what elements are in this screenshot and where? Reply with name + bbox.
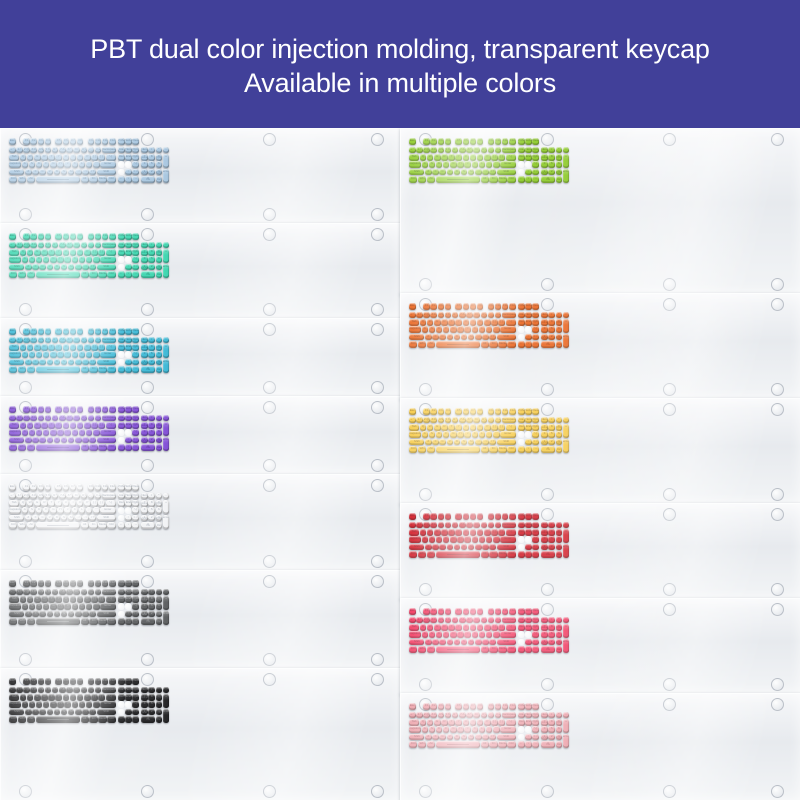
keycap: ←: [518, 446, 525, 453]
keycap-legend: F3: [438, 514, 445, 518]
keycap-legend: D: [36, 162, 43, 166]
keycap-legend: ; :: [86, 702, 93, 706]
keycap-legend: ↓: [525, 552, 532, 556]
keycap: A: [22, 161, 29, 168]
keycap-legend: F12: [109, 679, 116, 683]
keycap-legend: F9: [488, 514, 495, 518]
keycap-legend: , <: [475, 545, 482, 549]
keycap-legend: , <: [475, 735, 482, 739]
keycap: B: [454, 734, 461, 741]
keycap-legend: Alt: [81, 272, 89, 276]
keycap: F2: [430, 703, 437, 710]
keycap-legend: B: [454, 440, 461, 444]
keycap-legend: /: [548, 313, 555, 317]
keycap-legend: Shift: [497, 335, 516, 339]
keycap: F11: [502, 408, 509, 415]
keycap-legend: F8: [77, 581, 84, 585]
keycap-legend: →: [532, 552, 539, 556]
keycap: 3 #: [30, 687, 37, 694]
keycap-legend: F7: [470, 609, 477, 613]
keycap-legend: R: [41, 155, 48, 159]
keycap-legend: Esc: [409, 609, 416, 613]
keycap-legend: ↑: [125, 360, 132, 364]
keycap-legend: F2: [30, 234, 37, 238]
keycap-legend: Tab: [9, 501, 19, 505]
keycap-legend: -: [563, 148, 570, 152]
keycap-legend: Shift: [497, 545, 516, 549]
keycap: 3PgDn: [556, 169, 563, 176]
keycap: [118, 701, 125, 708]
keycap: -: [163, 493, 170, 500]
keycap-legend: \ |: [506, 530, 516, 534]
keycap-legend: ←: [518, 177, 525, 181]
keycap-legend: Pause: [132, 407, 139, 411]
keycap: Menu: [498, 741, 506, 748]
keycap: Ctrl: [107, 444, 115, 451]
keycap: 5 %: [45, 147, 52, 154]
keycap-legend: F5: [455, 514, 462, 518]
keycap: B: [454, 169, 461, 176]
keycap: 2 @: [423, 712, 430, 719]
keycap: Enter: [563, 544, 570, 558]
keycap-legend: End: [525, 320, 532, 324]
keycap: /: [548, 712, 555, 719]
keycap: J: [64, 701, 71, 708]
keycap: [518, 544, 525, 551]
keycap: F12: [109, 233, 116, 240]
keycap: F2: [30, 406, 37, 413]
keycap: Pause: [532, 608, 539, 615]
keycap-tray-hot-pink: EscF1F2F3F4F5F6F7F8F9F10F11F12PrtScScrLk…: [400, 598, 800, 695]
keycap: F8: [77, 233, 84, 240]
keycap-legend: X: [32, 438, 39, 442]
keycap-legend: F6: [63, 234, 70, 238]
keycap-legend-sub: PgDn: [156, 266, 163, 270]
keycap-legend: ] }: [98, 250, 105, 254]
keycap: Enter: [100, 256, 115, 263]
keycap-legend: PgUp: [132, 148, 139, 152]
keycap-legend: F6: [463, 609, 470, 613]
keycap: K: [472, 536, 479, 543]
keycap-legend: C: [39, 612, 46, 616]
keycap: J: [464, 631, 471, 638]
keycap-legend: D: [436, 537, 443, 541]
keycap-legend: A: [422, 727, 429, 731]
keycap: PgDn: [532, 424, 539, 431]
keycap-legend: *: [556, 148, 563, 152]
keycap: X: [32, 709, 39, 716]
keycap-legend: Win: [18, 177, 26, 181]
keycap: ; :: [486, 536, 493, 543]
keycap: F2: [30, 580, 37, 587]
keycap: M: [468, 734, 475, 741]
keycap-legend: Enter: [563, 735, 570, 739]
keycap-plate-yellow: EscF1F2F3F4F5F6F7F8F9F10F11F12PrtScScrLk…: [407, 406, 795, 497]
keycap-legend: ' ": [93, 604, 100, 608]
keycap-legend: -: [563, 418, 570, 422]
keycap: Ctrl: [409, 646, 417, 653]
keycap-legend: PrtSc: [118, 139, 125, 143]
keycap: A: [22, 351, 29, 358]
keycap: PrtSc: [118, 138, 125, 145]
keycap-legend: ] }: [498, 625, 505, 629]
keycap-legend: B: [454, 335, 461, 339]
keycap: 8: [148, 596, 155, 603]
keycap: 4 $: [438, 617, 445, 624]
keycap: [118, 611, 125, 618]
keycap-legend: \ |: [132, 162, 139, 166]
keycap: K: [72, 351, 79, 358]
keycap-legend: R: [441, 425, 448, 429]
keycap-legend: K: [72, 508, 79, 512]
keycap-legend: D: [436, 432, 443, 436]
keycap: Alt: [27, 716, 35, 723]
keycap: F3: [38, 233, 45, 240]
keycap: /: [148, 147, 155, 154]
keycap-legend: M: [68, 360, 75, 364]
keycap: 9PgUp: [556, 719, 563, 726]
keycap-legend: N: [61, 516, 68, 520]
keycap-legend: F1: [423, 139, 430, 143]
keycap: Del: [518, 319, 525, 326]
keycap-legend: 8 *: [466, 313, 473, 317]
keycap: M: [68, 437, 75, 444]
keycap: . >: [482, 334, 489, 341]
keycap-legend: I: [70, 597, 77, 601]
keycap-legend: Home: [125, 338, 132, 342]
keycap: 2: [548, 544, 555, 551]
keycap: [ {: [491, 154, 498, 161]
keycap: A: [22, 603, 29, 610]
keycap-legend: Menu: [98, 367, 106, 371]
keycap-legend: Tab: [409, 425, 419, 429]
keycap: 9 (: [73, 493, 80, 500]
keycap-legend: F6: [463, 514, 470, 518]
keycap-legend: . >: [482, 335, 489, 339]
keycap-legend: Shift: [97, 710, 116, 714]
keycap-legend: V: [47, 360, 54, 364]
keycap: M: [468, 639, 475, 646]
keycap: 1 !: [16, 687, 23, 694]
keycap: Q: [20, 694, 27, 701]
keycap: L: [79, 603, 86, 610]
keycap: Capslock: [9, 256, 21, 263]
keycap-legend: 8: [548, 720, 555, 724]
keycap: ' ": [93, 256, 100, 263]
keycap-legend: F5: [55, 581, 62, 585]
keycap-legend: Num: [141, 338, 148, 342]
keycap: →: [532, 741, 539, 748]
keycap: \ |: [506, 719, 516, 726]
keycap-legend: B: [454, 640, 461, 644]
keycap: Enter: [563, 639, 570, 653]
keycap: Ctrl: [9, 618, 17, 625]
keycap: [ {: [91, 422, 98, 429]
keycap: F1: [23, 580, 30, 587]
keycap: Y: [55, 596, 62, 603]
keycap: Enter: [163, 709, 170, 723]
keycap-legend: W: [427, 425, 434, 429]
keycap: F11: [502, 703, 509, 710]
keycap-legend: Enter: [163, 265, 170, 269]
keycap-legend: F12: [109, 234, 116, 238]
keycap-legend: 6 ^: [52, 494, 59, 498]
keycap: 2: [148, 359, 155, 366]
keycap: V: [447, 169, 454, 176]
keycap: 5 %: [445, 312, 452, 319]
keycap: E: [434, 624, 441, 631]
keycap-legend: L: [79, 430, 86, 434]
keycap: Fn: [89, 444, 97, 451]
keycap: W: [27, 500, 34, 507]
keycap-legend: 0 ): [481, 418, 488, 422]
keycap: 2 @: [423, 147, 430, 154]
keycap: 6: [556, 631, 563, 638]
keycap: Pause: [132, 406, 139, 413]
keycap: End: [125, 422, 132, 429]
keycap: Z: [25, 437, 32, 444]
keycap: 8 *: [466, 617, 473, 624]
keycap-legend: 3 #: [30, 243, 37, 247]
keycap-legend: \ |: [106, 250, 116, 254]
keycap-legend: ScrLk: [125, 407, 132, 411]
keycap-legend: 2: [548, 735, 555, 739]
keycap: F11: [102, 678, 109, 685]
keycap: Q: [20, 154, 27, 161]
keycap: [36, 176, 80, 183]
keycap: F: [443, 431, 450, 438]
keycap-legend: PgDn: [532, 425, 539, 429]
keycap: ' ": [93, 161, 100, 168]
keycap: 1End: [141, 709, 148, 716]
keycap-legend: ↑: [125, 710, 132, 714]
keycap-legend: 6 ^: [452, 313, 459, 317]
keycap: . >: [82, 611, 89, 618]
keycap-legend: I: [70, 501, 77, 505]
keycap: \ |: [532, 726, 539, 733]
keycap-legend: F12: [509, 514, 516, 518]
keycap: ; :: [486, 631, 493, 638]
keycap: F3: [38, 484, 45, 491]
keycap-legend-sub: End: [141, 711, 148, 715]
keycap: ; :: [86, 256, 93, 263]
keycap: O: [77, 596, 84, 603]
keycap-legend: 3 #: [30, 688, 37, 692]
keycap: Capslock: [409, 161, 421, 168]
keycap: C: [439, 734, 446, 741]
keycap-legend: Del: [518, 530, 525, 534]
keycap-legend: D: [36, 702, 43, 706]
keycap: E: [34, 596, 41, 603]
keycap-legend: ←: [118, 523, 125, 527]
keycap: ] }: [98, 596, 105, 603]
keycap: D: [36, 701, 43, 708]
keycap: /: [548, 417, 555, 424]
keycap-legend: T: [48, 501, 55, 505]
keycap: Z: [425, 334, 432, 341]
keycap: / ?: [489, 334, 496, 341]
keycap: End: [525, 529, 532, 536]
keycap-legend: ' ": [93, 162, 100, 166]
keycap-legend: Num: [541, 523, 548, 527]
keycap: B: [454, 639, 461, 646]
keycap: ↑: [525, 544, 532, 551]
keycap-legend: ' ": [93, 352, 100, 356]
keycap-legend: [ {: [491, 720, 498, 724]
keycap: X: [32, 359, 39, 366]
keycap: Tab: [409, 424, 419, 431]
keycap: 2: [548, 439, 555, 446]
keycap: 5: [548, 726, 555, 733]
keycap: Alt: [427, 646, 435, 653]
keycap: J: [464, 536, 471, 543]
keycap: Y: [455, 319, 462, 326]
keycap-legend: J: [464, 327, 471, 331]
keycap-tray-light-pink: EscF1F2F3F4F5F6F7F8F9F10F11F12PrtScScrLk…: [400, 693, 800, 800]
keycap: F11: [102, 233, 109, 240]
keycap-legend: ' ": [493, 632, 500, 636]
keycap: 6: [156, 256, 163, 263]
keycap-legend: +: [563, 720, 570, 724]
keycap: Ins: [118, 147, 125, 154]
keycap-legend-sub: End: [541, 736, 548, 740]
keycap: 0Ins: [141, 366, 155, 373]
keycap-legend-sub: Del: [156, 178, 163, 182]
keycap-legend: O: [77, 597, 84, 601]
keycap: = +: [95, 493, 102, 500]
keycap: 5 %: [45, 337, 52, 344]
keycap: 5 %: [445, 147, 452, 154]
keycap-legend: Ctrl: [409, 647, 417, 651]
keycap-legend: F7: [470, 704, 477, 708]
keycap-legend: F4: [445, 304, 452, 308]
keycap-legend: \ |: [506, 625, 516, 629]
keycap-legend: ; :: [486, 727, 493, 731]
keycap: Ctrl: [507, 176, 515, 183]
keycap: Alt: [427, 551, 435, 558]
keycap-legend: V: [447, 640, 454, 644]
keycap: K: [472, 631, 479, 638]
keycap: PrtSc: [518, 703, 525, 710]
keycap-legend: Menu: [498, 177, 506, 181]
keycap-legend: 2 @: [423, 148, 430, 152]
keycap-legend: Enter: [500, 537, 515, 541]
keycap: F7: [70, 233, 77, 240]
keycap-legend-sub: PgUp: [556, 321, 563, 325]
keycap: [118, 507, 125, 514]
keycap: . >: [82, 437, 89, 444]
keycap: [518, 631, 525, 638]
keycap-legend: 5 %: [445, 523, 452, 527]
keycap: Win: [18, 366, 26, 373]
keycap-legend: X: [32, 360, 39, 364]
keycap-legend: 4: [141, 352, 148, 356]
keycap: F3: [38, 580, 45, 587]
keycap-legend: Enter: [163, 170, 170, 174]
keycap-legend: Capslock: [409, 162, 421, 166]
keycap: S: [429, 161, 436, 168]
keycap: S: [429, 631, 436, 638]
keycap: 1 !: [16, 589, 23, 596]
keycap-legend: , <: [75, 710, 82, 714]
keycap: C: [439, 544, 446, 551]
keycap: C: [39, 359, 46, 366]
keycap: F8: [77, 406, 84, 413]
keycap-legend: 8: [548, 530, 555, 534]
keycap: ↑: [525, 639, 532, 646]
keycap-plate-hot-pink: EscF1F2F3F4F5F6F7F8F9F10F11F12PrtScScrLk…: [407, 606, 795, 687]
keycap-legend: PrtSc: [518, 139, 525, 143]
keycap: Shift: [409, 639, 424, 646]
keycap: Shift: [97, 359, 116, 366]
keycap-legend: 2: [548, 170, 555, 174]
keycap: ~ `: [409, 522, 416, 529]
keycap: U: [63, 249, 70, 256]
keycap-legend-sub: Ins: [541, 648, 555, 652]
keycap: O: [477, 529, 484, 536]
keycap: Win: [418, 741, 426, 748]
keycap-legend: 7 &: [59, 590, 66, 594]
keycap: ↓: [125, 176, 132, 183]
keycap: 6 ^: [452, 417, 459, 424]
keycap: F7: [70, 328, 77, 335]
keycap-legend: Capslock: [9, 257, 21, 261]
keycap-legend: Ctrl: [507, 342, 515, 346]
keycap: G: [450, 161, 457, 168]
keycap-legend: Ins: [118, 338, 125, 342]
keycap: F11: [102, 580, 109, 587]
keycap-legend: 5: [148, 702, 155, 706]
keycap: F5: [455, 703, 462, 710]
keycap-legend: S: [429, 537, 436, 541]
keycap-legend: End: [525, 155, 532, 159]
keycap: F12: [109, 678, 116, 685]
keycap-legend: 7 &: [59, 416, 66, 420]
keycap-legend: F: [43, 352, 50, 356]
keycap-legend: H: [57, 162, 64, 166]
keycap-legend: ] }: [498, 320, 505, 324]
keycap: Enter: [100, 429, 115, 436]
keycap-legend-sub: Del: [556, 743, 563, 747]
keycap-legend: \ |: [132, 352, 139, 356]
keycap-legend: W: [427, 320, 434, 324]
keycap-legend: B: [54, 612, 61, 616]
keycap-legend: F5: [55, 485, 62, 489]
keycap: H: [457, 536, 464, 543]
keycap-legend: 6: [156, 352, 163, 356]
keycap: 7Home: [141, 249, 148, 256]
keycap: Alt: [481, 551, 489, 558]
keycap-legend: \ |: [132, 508, 139, 512]
keycap-legend: Enter: [100, 162, 115, 166]
keycap: Ins: [518, 712, 525, 719]
keycap-legend: ~ `: [409, 618, 416, 622]
keycap: P: [84, 249, 91, 256]
keycap-legend: - _: [488, 523, 495, 527]
keycap-legend-sub: PgDn: [556, 736, 563, 740]
keycap-legend: = +: [95, 494, 102, 498]
keycap-legend: Tab: [409, 155, 419, 159]
keycap: S: [29, 161, 36, 168]
keycap-legend: 2: [148, 170, 155, 174]
keycap: G: [450, 536, 457, 543]
keycap-legend: PgDn: [132, 423, 139, 427]
keycap-legend: F7: [470, 304, 477, 308]
keycap-legend: 8 *: [66, 688, 73, 692]
keycap-legend: F1: [423, 514, 430, 518]
keycap: Alt: [81, 176, 89, 183]
keycap-legend: ScrLk: [125, 679, 132, 683]
